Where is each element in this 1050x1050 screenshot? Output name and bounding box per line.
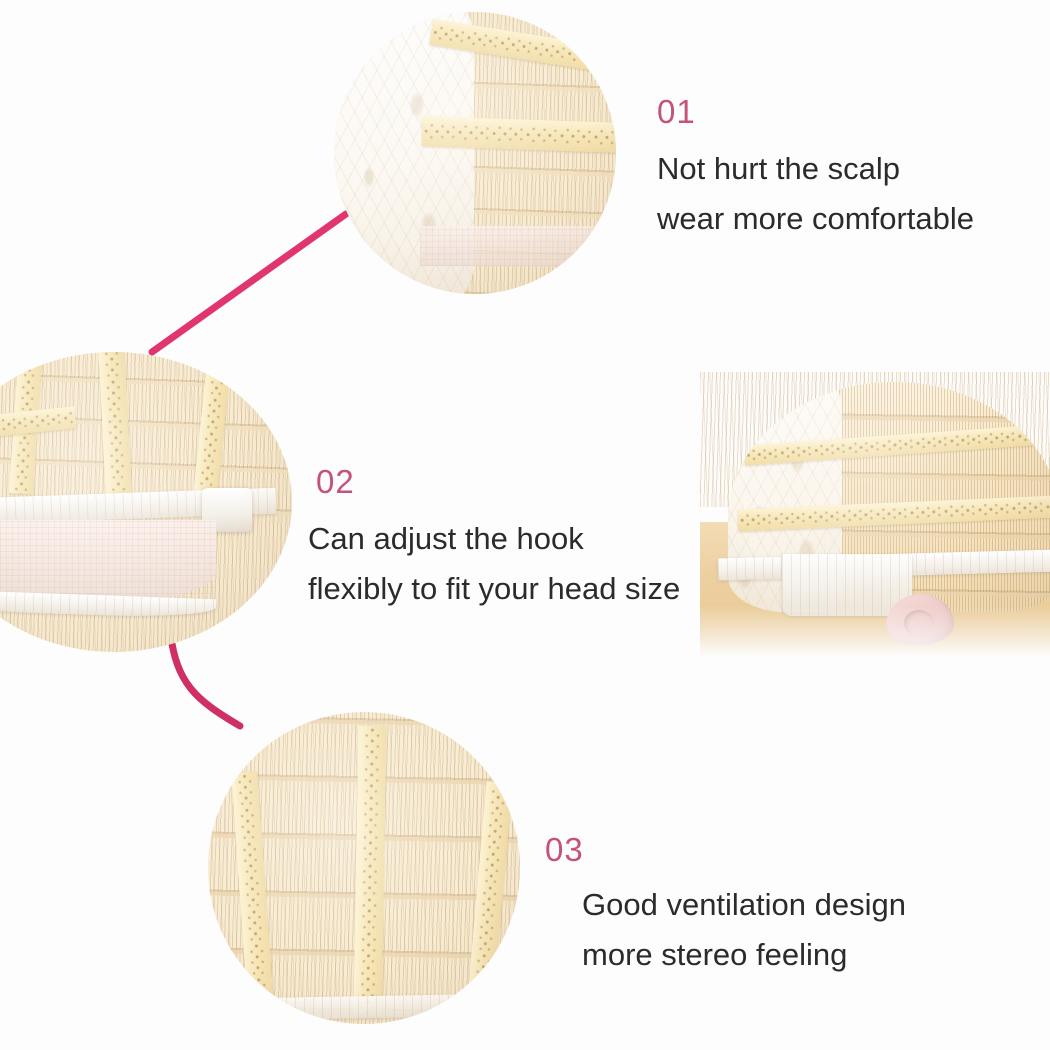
feature-number-03: 03 [545, 833, 906, 866]
eyelet-lace-strip [353, 726, 386, 1016]
feature-line2-01: wear more comfortable [657, 194, 974, 244]
feature-block-03: 03 Good ventilation design more stereo f… [545, 833, 906, 980]
feature-block-01: 01 Not hurt the scalp wear more comforta… [657, 95, 974, 244]
feature-line1-03: Good ventilation design [582, 880, 906, 930]
feature-line1-02: Can adjust the hook [308, 514, 680, 564]
feature-number-01: 01 [657, 95, 974, 128]
feature-line1-01: Not hurt the scalp [657, 144, 974, 194]
feature-line2-03: more stereo feeling [582, 930, 906, 980]
feature-line2-02: flexibly to fit your head size [308, 564, 680, 614]
feature-block-02: 02 Can adjust the hook flexibly to fit y… [308, 465, 680, 614]
feature-number-02: 02 [316, 465, 680, 498]
wig-cap-adjustable-strap-closeup-photo [0, 352, 292, 652]
wig-cap-ventilation-weft-closeup-photo [208, 712, 520, 1024]
product-feature-infographic: 01 Not hurt the scalp wear more comforta… [0, 0, 1050, 1050]
connector-line-02-to-01 [152, 214, 346, 352]
wig-cap-lace-closeup-photo [334, 12, 616, 294]
cap-edge-band [268, 994, 478, 1020]
